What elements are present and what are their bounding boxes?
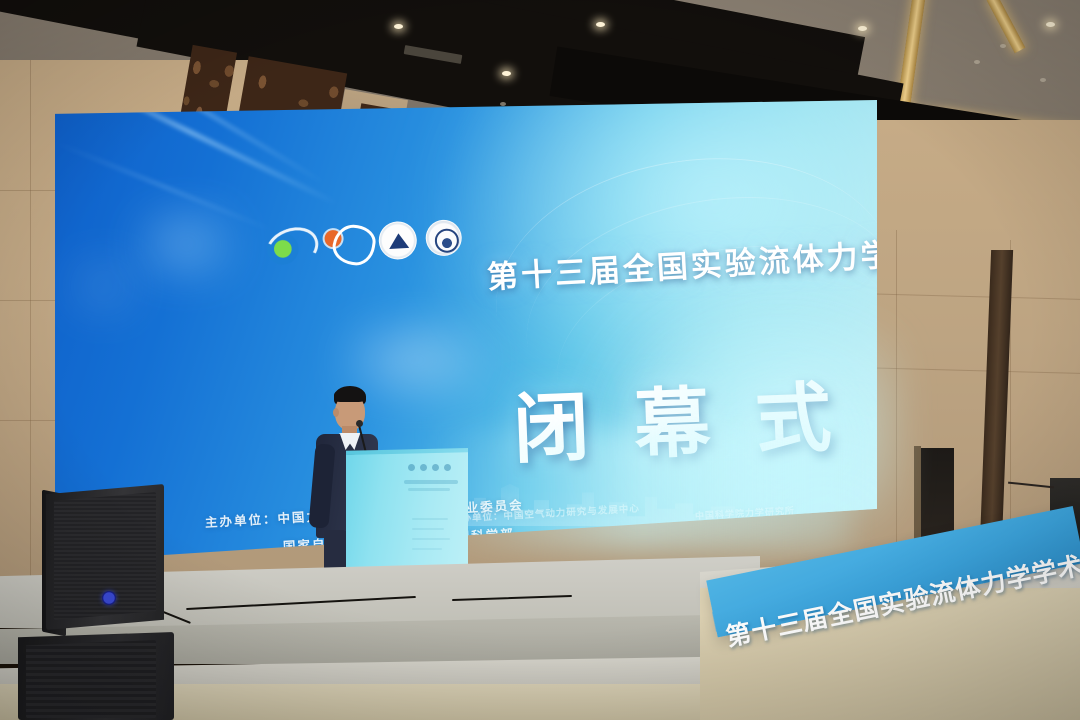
screen-headline: 第十三届全国实验流体力学学术会议: [486, 222, 877, 297]
ceiling-fixture: [1040, 78, 1046, 82]
sponsor-logo-row: [262, 217, 463, 268]
wall-seam: [30, 60, 31, 600]
pa-speaker-badge-icon: [102, 591, 116, 605]
podium-text-block: [408, 488, 450, 491]
podium-text-block: [412, 528, 444, 530]
podium-text-block: [404, 480, 458, 484]
screen-main-title: 闭 幕 式: [511, 355, 845, 478]
speaker-hair-top: [334, 388, 365, 402]
downlight: [596, 22, 605, 27]
speaker-ear: [333, 408, 339, 417]
downlight: [394, 24, 403, 29]
microphone-head-icon: [356, 420, 363, 427]
podium-text-block: [412, 548, 442, 550]
ceiling-fixture: [500, 102, 506, 106]
downlight: [502, 71, 511, 76]
pa-subwoofer-grille: [26, 640, 156, 718]
ceiling-fixture: [1000, 44, 1006, 48]
logo-institute-triangle-icon: [378, 220, 418, 260]
podium-logo-dots: [408, 464, 451, 471]
ceiling-fixture: [974, 60, 980, 64]
downlight: [1046, 22, 1055, 27]
podium-text-block: [412, 518, 448, 520]
wall-seam: [896, 230, 897, 550]
podium-text-block: [412, 538, 450, 540]
conference-photo: 第十三届全国实验流体力学学术会议 闭 幕 式 主办单位：中国力学学会实验流体力学…: [0, 0, 1080, 720]
logo-cstam-icon: [262, 225, 316, 268]
downlight: [858, 26, 867, 31]
logo-university-seal-icon: [425, 219, 463, 257]
logo-cardc-icon: [323, 222, 371, 265]
